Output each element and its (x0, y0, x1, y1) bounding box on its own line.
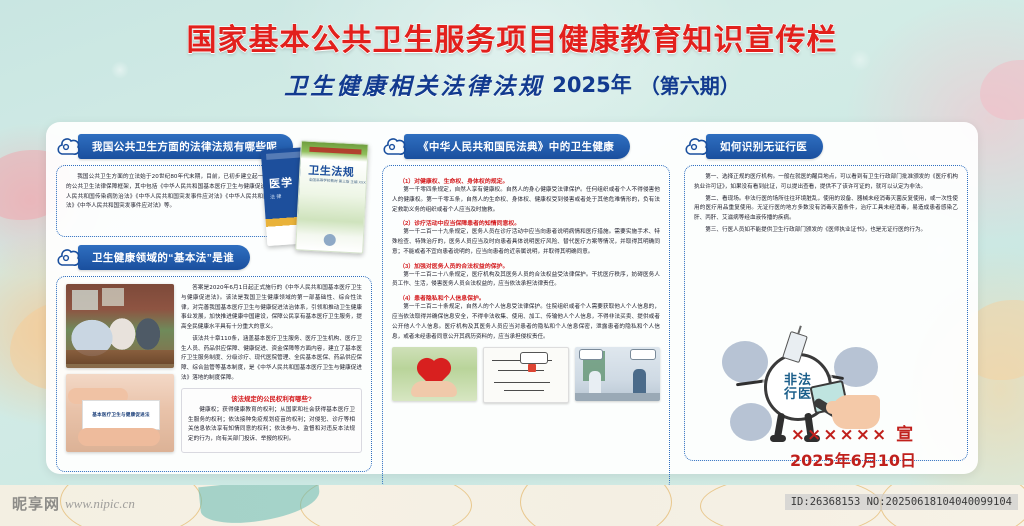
watermark-footer: 昵享网 www.nipic.cn ID:26368153 NO:20250618… (0, 485, 1024, 526)
civil-code-item-label: （1）对健康权、生命权、身体权的规定。 (392, 176, 660, 185)
public-health-laws-paragraph: 我国公共卫生方面的立法始于20世纪80年代末期，目前，已初步建立起一套较为完善的… (66, 173, 292, 212)
illegal-practice-paragraph-2: 第二、看现场。非法行医的场所往往环境脏乱，使用的设备、器械未经消毒灭菌反复使用，… (694, 195, 958, 224)
book-blue-title: 医学 (269, 174, 294, 192)
site-watermark: 昵享网 www.nipic.cn (12, 493, 135, 514)
illegal-practice-paragraph-1: 第一、选择正规的医疗机构。一般在就医的醒目地点，可以看到有卫生行政部门批准颁发的… (694, 173, 958, 193)
photo-stack: 基本医疗卫生与健康促进法 (66, 284, 174, 464)
book-green-subtitle: 全国高等学校教材 第三版 主编 XXX (309, 178, 366, 186)
civil-code-item-text: 第一千二百二十条规定，自然人的个人信息受法律保护。住院组织或者个人需要获取他人个… (392, 303, 660, 342)
publisher-logo-icon (323, 234, 336, 247)
basic-law-text: 答案是2020年6月1日起正式施行的《中华人民共和国基本医疗卫生与健康促进法》。… (181, 284, 362, 464)
medical-cartoon-illustration (483, 347, 570, 403)
signature-date: 2025年6月10日 (738, 447, 968, 471)
doctor-patient-illustration (575, 347, 660, 401)
signature-block: ×××××× 宣 2025年6月10日 (738, 420, 968, 471)
poster-issue: （第六期） (640, 70, 740, 99)
illegal-practice-paragraph-3: 第三、行医人员如不能提供卫生行政部门颁发的《医师执业证书》，也是无证行医的行为。 (694, 226, 958, 236)
law-books-image: 医学 法 律 卫生法规 全国高等学校教材 第三版 主编 XXX (264, 142, 372, 254)
cloud-icon (382, 136, 408, 158)
civil-code-item-label: （3）加强对医务人员的合法权益的保护。 (392, 261, 660, 270)
signature-org: ×××××× 宣 (738, 420, 968, 445)
book-blue-subtitle: 法 律 (270, 193, 282, 201)
basic-law-paragraph-1: 答案是2020年6月1日起正式施行的《中华人民共和国基本医疗卫生与健康促进法》。… (181, 284, 362, 333)
poster-year: 2025年 (552, 69, 631, 99)
hands-holding-heart-photo (392, 347, 477, 401)
page-title: 国家基本公共卫生服务项目健康教育知识宣传栏 (0, 24, 1024, 57)
section-header-identify-illegal-practice: 如何识别无证行医 (684, 134, 968, 159)
citizen-rights-box: 该法规定的公民权利有哪些? 健康权；获得健康教育的权利；从国家和社会获得基本医疗… (181, 388, 362, 453)
civil-code-item-text: 第一千二百一十九条规定，医务人员在诊疗活动中应当向患者说明病情和医疗措施。需要实… (392, 228, 660, 257)
image-id-watermark: ID:26368153 NO:20250618104040099104 (785, 494, 1018, 510)
cloud-icon (56, 136, 82, 158)
book-green-health-regulations: 卫生法规 全国高等学校教材 第三版 主编 XXX (295, 140, 369, 253)
decorative-teal-shape (198, 485, 322, 526)
section-title-label: 卫生健康领域的“基本法”是谁 (78, 245, 250, 270)
column-left: 我国公共卫生方面的法律法规有哪些呢 我国公共卫生方面的立法始于20世纪80年代末… (46, 122, 376, 474)
site-name-cn: 昵享网 (12, 493, 60, 514)
law-sign-photo: 基本医疗卫生与健康促进法 (66, 374, 174, 452)
site-url: www.nipic.cn (65, 496, 135, 512)
poster-subtitle: 卫生健康相关法律法规 (284, 67, 544, 101)
cloud-icon (56, 247, 82, 269)
column-middle: 《中华人民共和国民法典》中的卫生健康 （1）对健康权、生命权、身体权的规定。 第… (376, 122, 676, 474)
civil-code-image-row (392, 347, 660, 403)
civil-code-box: （1）对健康权、生命权、身体权的规定。 第一千零四条规定，自然人享有健康权。自然… (382, 165, 670, 491)
basic-law-paragraph-2: 该法共十章110条，涵盖基本医疗卫生服务、医疗卫生机构、医疗卫生人员、药品供应保… (181, 335, 362, 384)
poster-subtitle-row: 卫生健康相关法律法规 2025年 （第六期） (0, 67, 1024, 101)
citizen-rights-heading: 该法规定的公民权利有哪些? (188, 394, 355, 403)
identify-illegal-practice-box: 第一、选择正规的医疗机构。一般在就医的醒目地点，可以看到有卫生行政部门批准颁发的… (684, 165, 968, 461)
basic-law-section: 卫生健康领域的“基本法”是谁 基本医疗卫生与健康促进法 答案是2020年6月1日… (56, 245, 368, 472)
poster-title-block: 国家基本公共卫生服务项目健康教育知识宣传栏 卫生健康相关法律法规 2025年 （… (0, 24, 1024, 101)
illegal-text-line2: 行医 (784, 387, 812, 401)
section-header-civil-code: 《中华人民共和国民法典》中的卫生健康 (382, 134, 670, 159)
cloud-icon (684, 136, 710, 158)
civil-code-item-text: 第一千二百二十八条规定，医疗机构及其医务人员的合法权益受法律保护。干扰医疗秩序，… (392, 271, 660, 291)
civil-code-item-text: 第一千零四条规定，自然人享有健康权。自然人的身心健康受法律保护。任何组织或者个人… (392, 186, 660, 215)
section-title-label: 如何识别无证行医 (706, 134, 823, 159)
law-sign-text: 基本医疗卫生与健康促进法 (92, 412, 150, 418)
section-title-label: 《中华人民共和国民法典》中的卫生健康 (404, 134, 630, 159)
basic-law-box: 基本医疗卫生与健康促进法 答案是2020年6月1日起正式施行的《中华人民共和国基… (56, 276, 372, 472)
civil-code-item-label: （2）诊疗活动中应当保障患者的知情同意权。 (392, 218, 660, 227)
civil-code-item-label: （4）患者隐私和个人信息保护。 (392, 293, 660, 302)
elderly-health-service-photo (66, 284, 174, 368)
citizen-rights-text: 健康权；获得健康教育的权利；从国家和社会获得基本医疗卫生服务的权利；依法接种免疫… (188, 406, 355, 445)
illegal-text-line1: 非法 (784, 373, 812, 386)
